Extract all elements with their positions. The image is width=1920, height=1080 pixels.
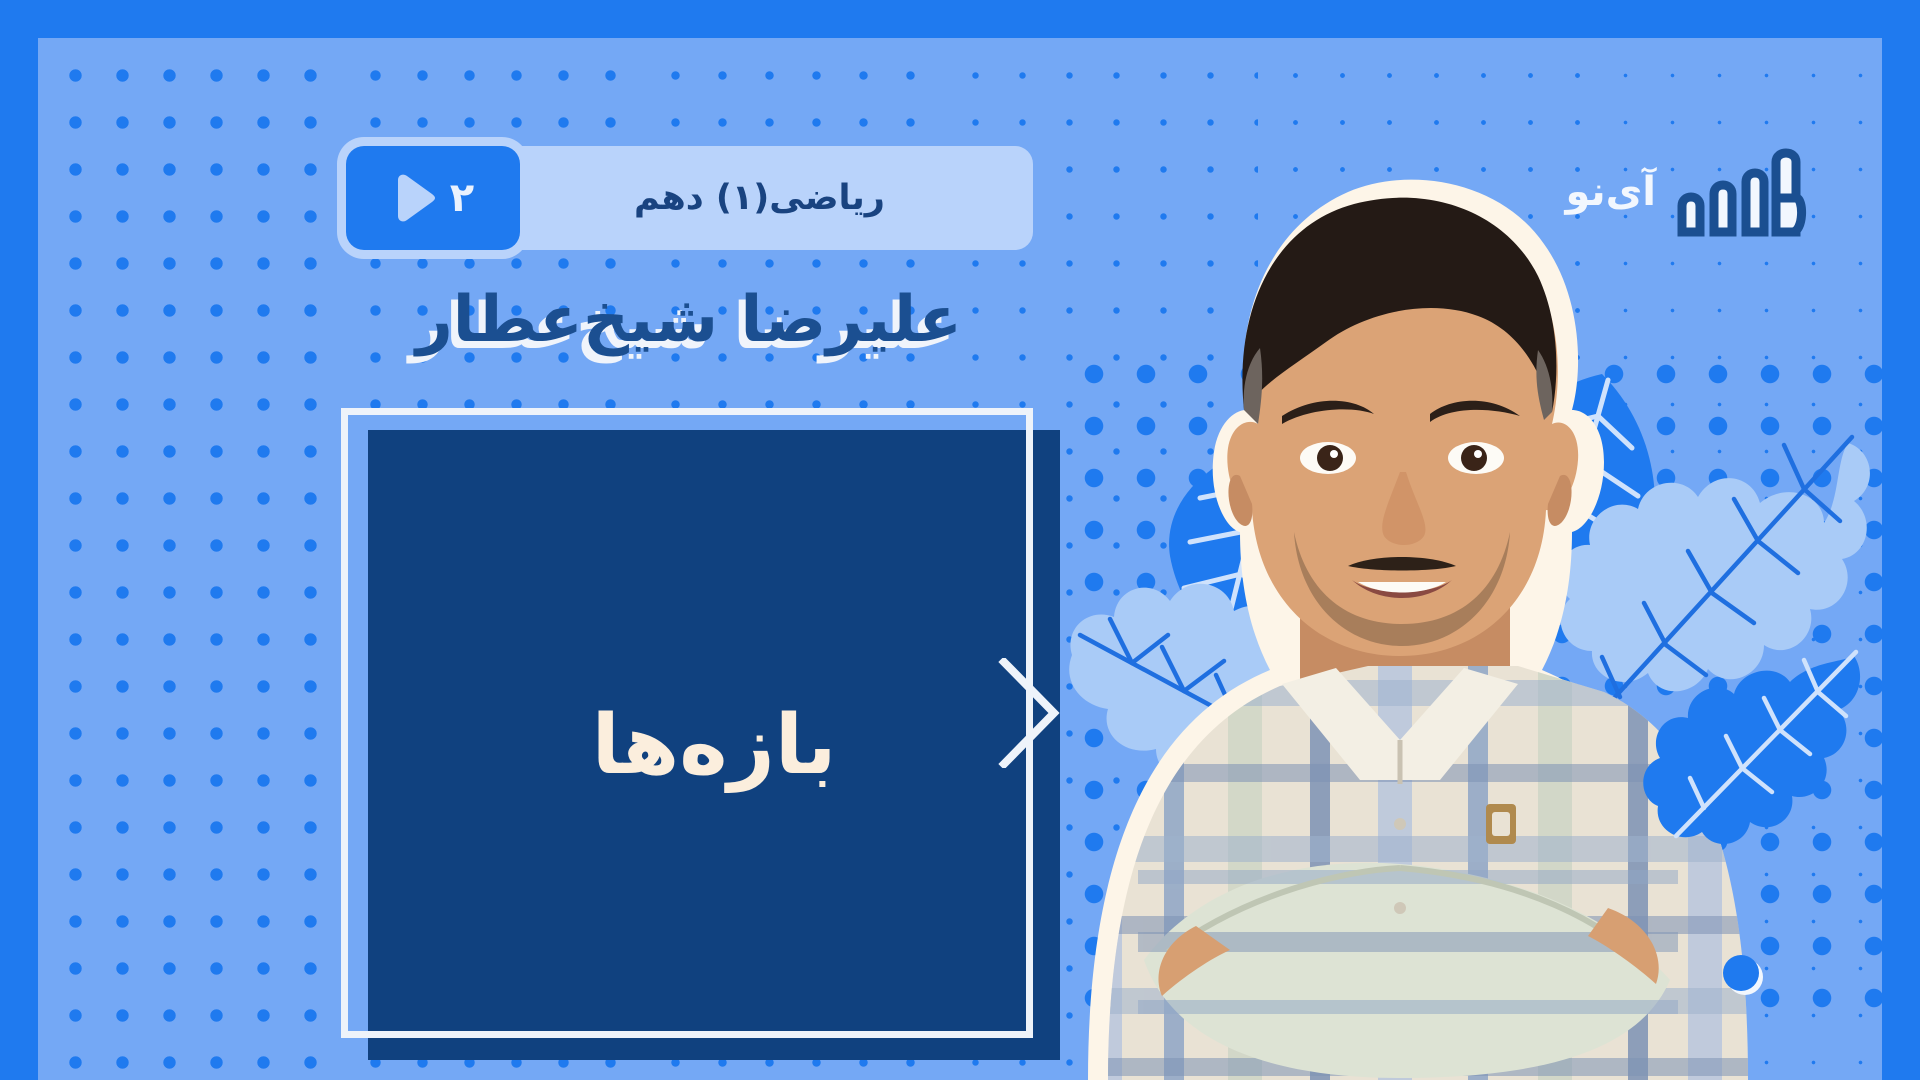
leaf-dark-right-icon (1486, 368, 1686, 658)
bar-chart-mark-icon (1672, 146, 1810, 238)
course-label: ریاضی(۱) دهم (520, 178, 1033, 218)
instructor-name: علیرضا شیخ‌عطار (416, 283, 962, 357)
brand-logo-text: آی‌نو (1566, 169, 1656, 215)
slide-root: ریاضی(۱) دهم ۲ علیرضا شیخ‌عطار بازه‌ها آ… (0, 0, 1920, 1080)
leaf-light-left-icon (1058, 543, 1388, 793)
leaf-light-right-icon (1548, 413, 1878, 743)
play-icon (392, 174, 436, 222)
brand-logo[interactable]: آی‌نو (1566, 146, 1810, 238)
halftone-band-1 (38, 38, 338, 1080)
course-pill[interactable]: ریاضی(۱) دهم ۲ (346, 146, 1033, 250)
accent-dot (1722, 954, 1764, 996)
slide-canvas: ریاضی(۱) دهم ۲ علیرضا شیخ‌عطار بازه‌ها آ… (38, 38, 1882, 1080)
halftone-field-photo (1058, 338, 1882, 1038)
leaf-far-right-icon (1638, 638, 1868, 868)
lesson-number: ۲ (450, 175, 474, 221)
halftone-band-5 (1258, 38, 1588, 1080)
leaf-dark-left-icon (1148, 438, 1358, 728)
lesson-badge[interactable]: ۲ (346, 146, 520, 250)
title-text: بازه‌ها (368, 430, 1060, 1060)
